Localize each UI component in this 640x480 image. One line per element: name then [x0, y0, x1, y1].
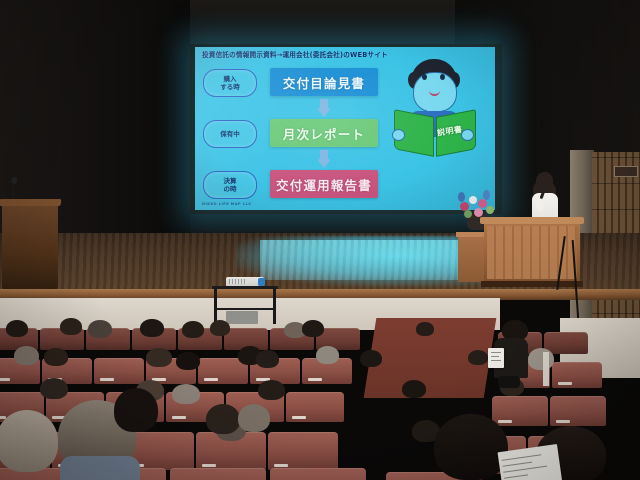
foreground-head-right [434, 414, 508, 480]
foreground-head-dark [114, 388, 158, 432]
chip-line-1: 購入 [220, 75, 240, 84]
chip-line-2: する時 [220, 83, 240, 92]
audience-head-mid-2 [238, 404, 270, 432]
slide-bar-operation-report: 交付運用報告書 [270, 170, 378, 198]
down-arrow-icon-2 [316, 150, 332, 168]
chip-line-1: 保有中 [220, 130, 240, 139]
audience-seating [0, 318, 640, 480]
audience-member-grey-hair [528, 348, 554, 370]
projector-lens-icon [258, 278, 265, 286]
slide-bar-monthly-report: 月次レポート [270, 119, 378, 147]
projection-screen: 投資信託の情報開示資料→運用会社(委託会社)のWEBサイト 購入 する時 交付目… [195, 47, 495, 210]
slide-chip-settlement: 決算 の時 [203, 171, 257, 199]
stage-left-lectern [2, 203, 58, 289]
slide-chip-holding: 保有中 [203, 120, 257, 148]
chip-line-1: 決算 [224, 177, 237, 186]
audience-member-right [488, 320, 534, 390]
slide-footer-logo: NIKKO LIFE MAP LLC [202, 202, 251, 206]
down-arrow-icon-1 [316, 99, 332, 117]
boy-reading-book-icon: 説明書 [391, 59, 477, 159]
foreground-head-left [0, 410, 58, 472]
slide-chip-purchase: 購入 する時 [203, 69, 257, 97]
lecture-hall-photo: 投資信託の情報開示資料→運用会社(委託会社)のWEBサイト 購入 する時 交付目… [0, 0, 640, 480]
foreground-shoulders-grey [60, 456, 140, 480]
chip-line-2: の時 [224, 185, 237, 194]
speaker-podium [484, 222, 580, 282]
audience-head-mid [206, 404, 240, 434]
slide-bar-prospectus: 交付目論見書 [270, 68, 378, 96]
rolled-paper [543, 352, 549, 386]
wall-sign [614, 166, 638, 177]
